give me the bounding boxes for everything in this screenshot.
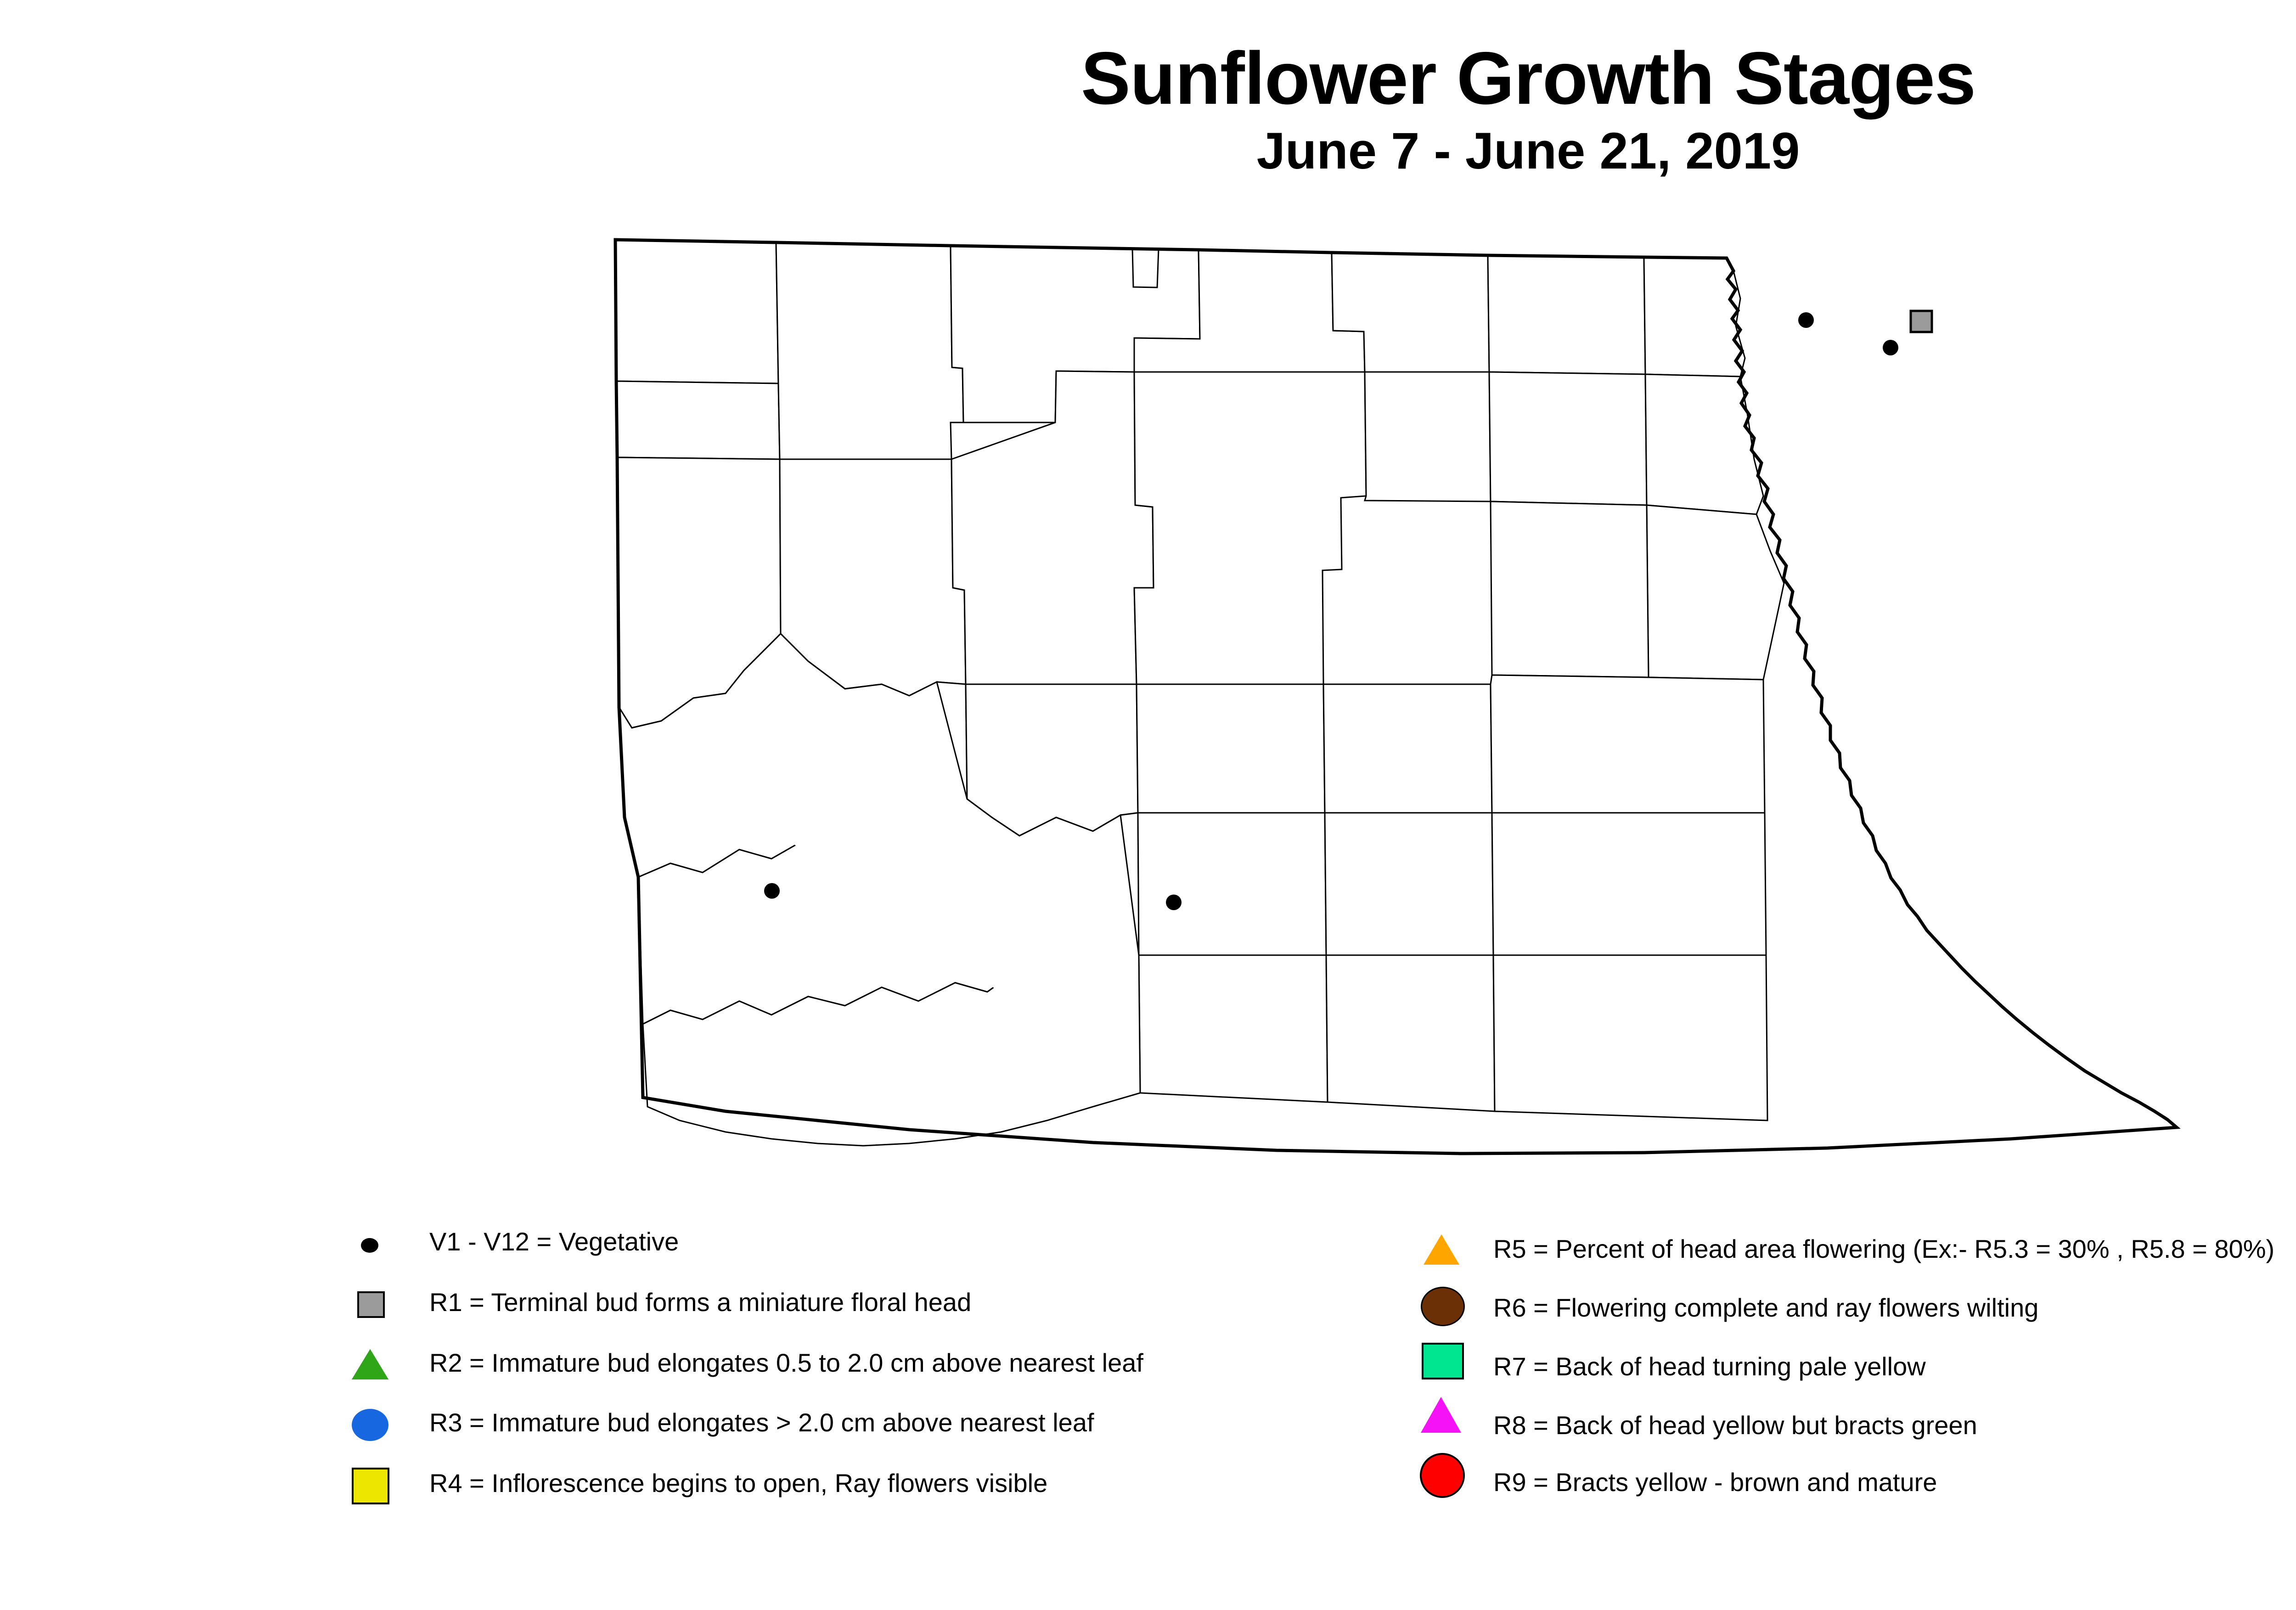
brown-circle-marker (1421, 1287, 1465, 1326)
legend-label-r3: R3 = Immature bud elongates > 2.0 cm abo… (429, 1410, 1094, 1435)
legend-label-r6: R6 = Flowering complete and ray flowers … (1493, 1295, 2038, 1321)
red-circle-marker (1420, 1453, 1465, 1498)
page-title: Sunflower Growth Stages (0, 41, 2296, 116)
map-marker-r1-1[interactable] (1911, 311, 1932, 332)
map-marker-v-4[interactable] (1166, 895, 1182, 910)
legend: V1 - V12 = Vegetative R1 = Terminal bud … (0, 1235, 2296, 1557)
map-marker-v-1[interactable] (1798, 312, 1814, 328)
legend-label-r4: R4 = Inflorescence begins to open, Ray f… (429, 1470, 1047, 1496)
yellow-square-marker (352, 1468, 389, 1504)
magenta-triangle-marker (1421, 1397, 1461, 1433)
legend-label-r8: R8 = Back of head yellow but bracts gree… (1493, 1413, 1977, 1438)
gray-square-marker (357, 1291, 385, 1318)
legend-label-r2: R2 = Immature bud elongates 0.5 to 2.0 c… (429, 1350, 1143, 1376)
map-marker-v-3[interactable] (764, 883, 780, 899)
page-subtitle: June 7 - June 21, 2019 (0, 124, 2296, 178)
map-svg (588, 220, 2223, 1208)
orange-triangle-marker (1424, 1234, 1459, 1265)
black-dot-marker (361, 1238, 378, 1253)
legend-label-r7: R7 = Back of head turning pale yellow (1493, 1354, 1926, 1379)
north-dakota-county-map[interactable] (588, 220, 2223, 1208)
title-block: Sunflower Growth Stages June 7 - June 21… (0, 41, 2296, 178)
blue-circle-marker (352, 1409, 388, 1441)
legend-label-v: V1 - V12 = Vegetative (429, 1229, 679, 1255)
teal-square-marker (1422, 1343, 1464, 1379)
legend-label-r9: R9 = Bracts yellow - brown and mature (1493, 1469, 1937, 1495)
map-marker-v-2[interactable] (1883, 340, 1898, 355)
legend-label-r1: R1 = Terminal bud forms a miniature flor… (429, 1289, 971, 1315)
legend-label-r5: R5 = Percent of head area flowering (Ex:… (1493, 1236, 2274, 1262)
green-triangle-marker (352, 1349, 388, 1379)
